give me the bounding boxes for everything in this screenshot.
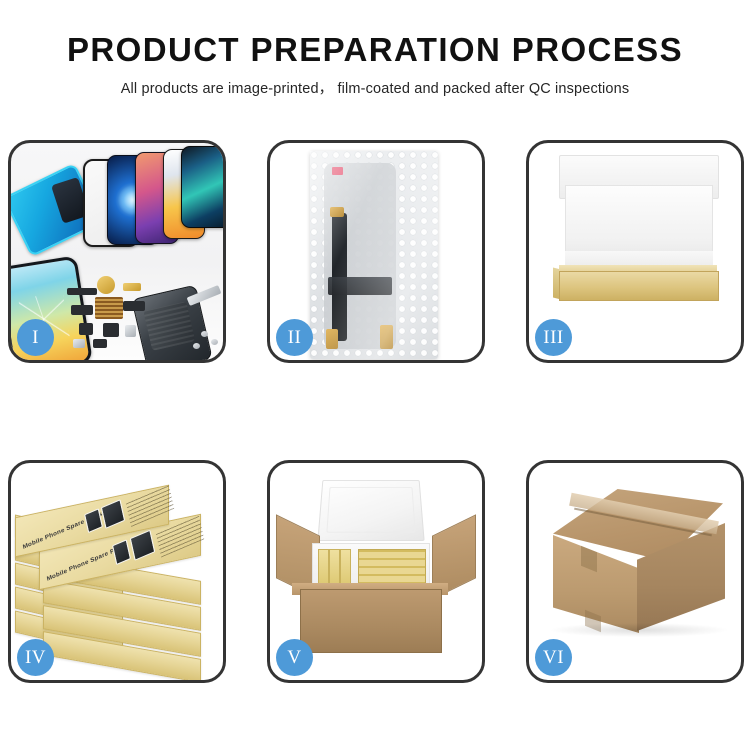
part-flex-strip xyxy=(67,288,97,295)
lcd-connector xyxy=(328,277,392,295)
part-chip-array xyxy=(95,297,123,319)
part-button-set xyxy=(79,323,93,335)
part-screw-a xyxy=(201,331,208,337)
step-panel-3: III xyxy=(526,140,744,363)
step-badge-3: III xyxy=(535,319,572,356)
foam-lid xyxy=(317,480,424,541)
part-speaker-module xyxy=(123,301,145,311)
lcd-gold-contact-right xyxy=(380,325,393,349)
box-front-panel xyxy=(559,271,719,301)
step-panel-2: II xyxy=(267,140,485,363)
page-title: PRODUCT PREPARATION PROCESS xyxy=(0,30,750,70)
product-preparation-infographic: PRODUCT PREPARATION PROCESS All products… xyxy=(0,0,750,750)
step-badge-5: V xyxy=(276,639,313,676)
step-panel-5: V xyxy=(267,460,485,683)
steps-grid: I II xyxy=(8,140,744,683)
retail-box-thumb-2a xyxy=(112,539,131,565)
part-camera-module xyxy=(71,305,93,315)
step-badge-1: I xyxy=(17,319,54,356)
part-metal-bracket xyxy=(73,339,85,348)
step-badge-6: VI xyxy=(535,639,572,676)
part-screw-b xyxy=(211,339,218,345)
step-panel-1: I xyxy=(8,140,226,363)
step-badge-4: IV xyxy=(17,639,54,676)
retail-box-thumb-2b xyxy=(130,530,156,561)
step-badge-2: II xyxy=(276,319,313,356)
screen-green-display xyxy=(181,146,223,228)
carton-drop-shadow xyxy=(551,623,727,637)
lcd-gold-contact-left xyxy=(326,329,338,349)
header: PRODUCT PREPARATION PROCESS All products… xyxy=(0,30,750,98)
lcd-gold-contact-top xyxy=(330,207,344,217)
retail-box-thumb-1b xyxy=(101,499,125,529)
step-panel-6: VI xyxy=(526,460,744,683)
part-gold-connector xyxy=(123,283,141,291)
retail-box-spec-list-1 xyxy=(126,484,174,527)
part-screw-c xyxy=(193,343,200,349)
carton-front-panel xyxy=(300,589,442,653)
part-vibration-motor xyxy=(97,276,115,294)
bubble-wrap-sleeve xyxy=(310,151,438,359)
part-sim-tray xyxy=(125,325,136,337)
part-earpiece xyxy=(103,323,119,337)
page-subtitle: All products are image-printed， film-coa… xyxy=(0,77,750,98)
step-panel-4: Mobile Phone Spare Parts Mobile Phone Sp… xyxy=(8,460,226,683)
part-cable-clip xyxy=(93,339,107,348)
pink-qc-sticker xyxy=(332,167,343,175)
